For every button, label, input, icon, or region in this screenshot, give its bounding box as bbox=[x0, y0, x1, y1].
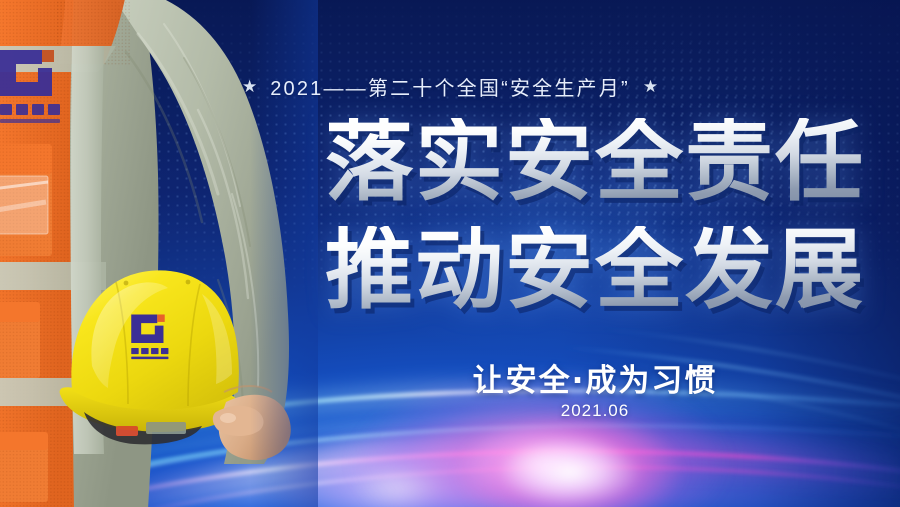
poster-date: 2021.06 bbox=[310, 401, 880, 421]
safety-month-poster: ★ 2021——第二十个全国“安全生产月” ★ 落实安全责任 推动安全发展 让安… bbox=[0, 0, 900, 507]
headline-line-1: 落实安全责任 bbox=[310, 118, 880, 206]
headline-text-2: 推动安全发展 bbox=[325, 226, 865, 314]
headline-text-1: 落实安全责任 bbox=[325, 118, 865, 206]
poster-subtitle: 让安全·成为习惯 bbox=[310, 355, 880, 400]
headline-line-2: 推动安全发展 bbox=[310, 226, 880, 314]
construction-worker-photo bbox=[0, 0, 318, 507]
